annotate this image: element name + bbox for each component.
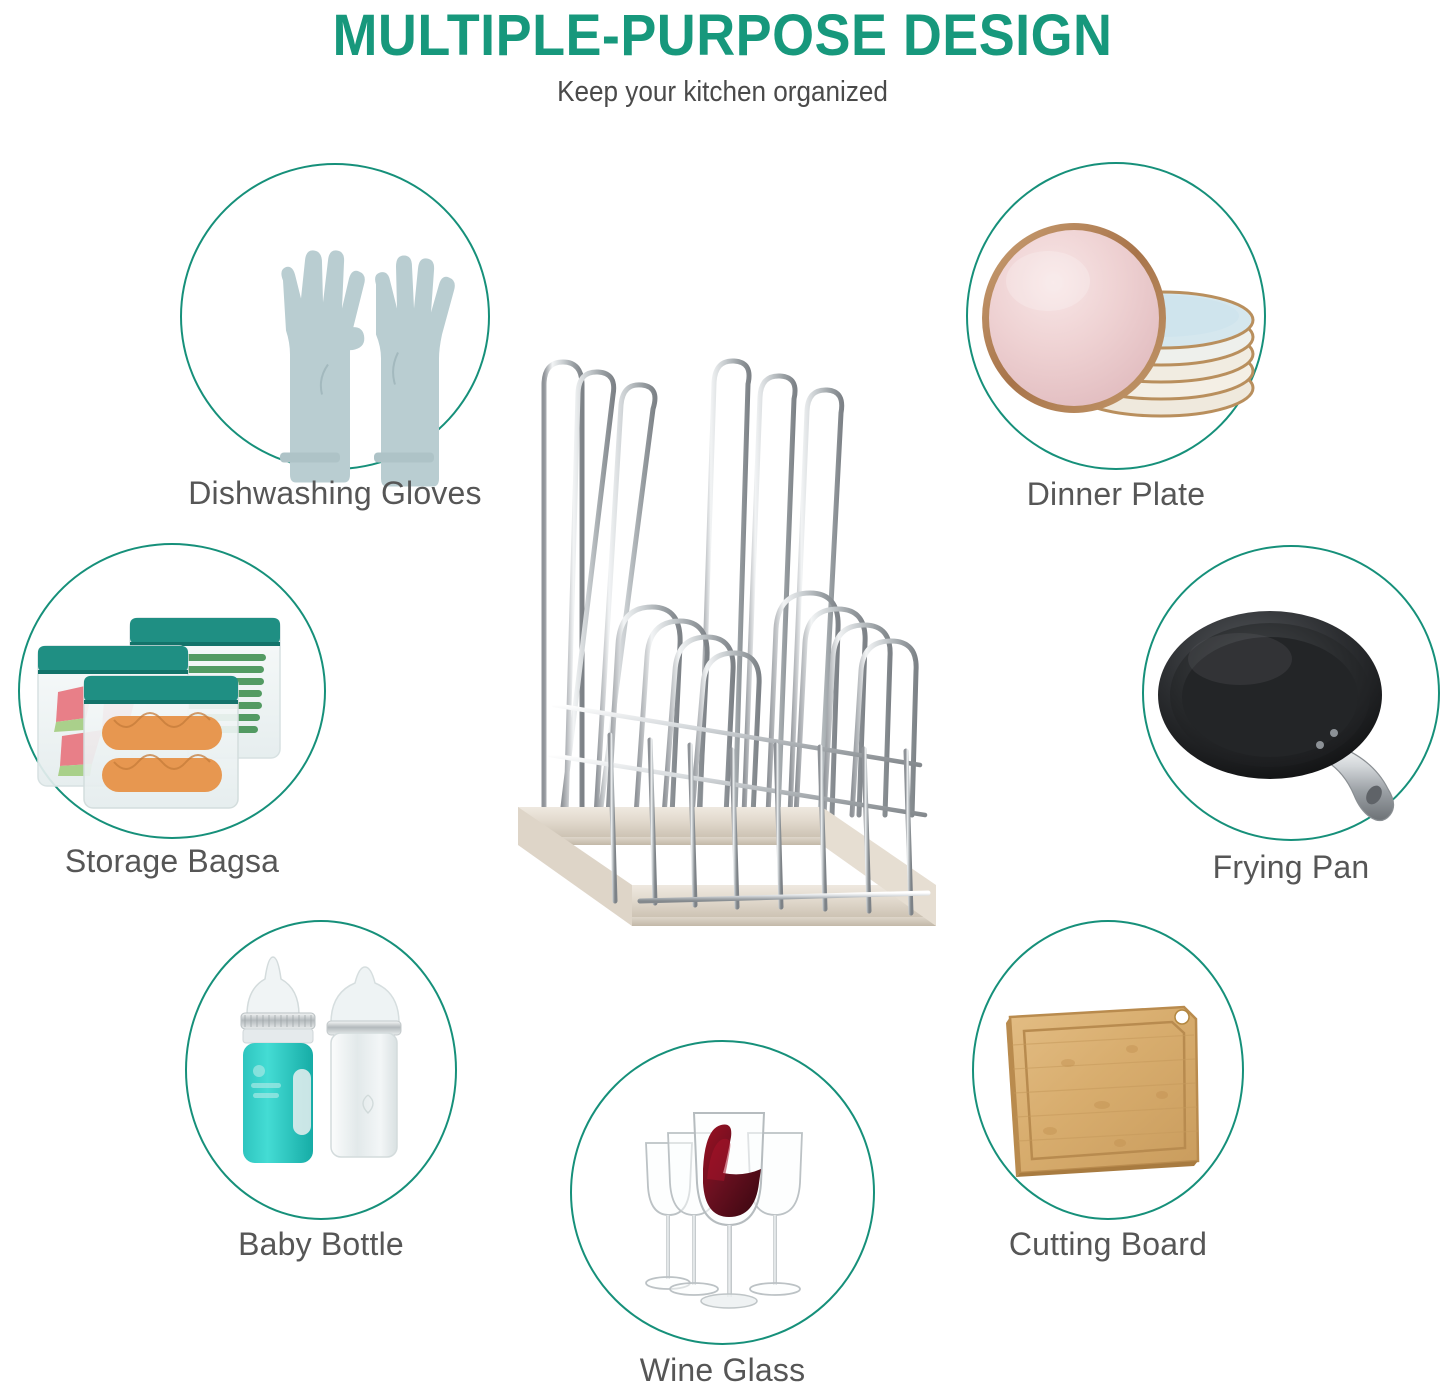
feature-label: Dishwashing Gloves bbox=[180, 475, 490, 512]
feature-ring bbox=[972, 920, 1244, 1220]
feature-label: Wine Glass bbox=[570, 1352, 875, 1383]
feature-ring bbox=[570, 1040, 875, 1345]
feature-dishwashing-gloves[interactable]: Dishwashing Gloves bbox=[180, 163, 490, 513]
feature-ring bbox=[966, 162, 1266, 470]
feature-ring bbox=[180, 163, 490, 470]
feature-label: Baby Bottle bbox=[185, 1226, 457, 1263]
product-wire-rack bbox=[500, 345, 960, 930]
feature-ring bbox=[18, 543, 326, 839]
wire-rack-illustration bbox=[500, 345, 960, 930]
feature-ring bbox=[1142, 545, 1440, 841]
page-subtitle: Keep your kitchen organized bbox=[72, 76, 1373, 109]
feature-label: Storage Bagsa bbox=[18, 843, 326, 880]
feature-label: Dinner Plate bbox=[966, 476, 1266, 513]
feature-baby-bottle[interactable]: Baby Bottle bbox=[185, 920, 457, 1270]
feature-label: Frying Pan bbox=[1142, 849, 1440, 886]
feature-frying-pan[interactable]: Frying Pan bbox=[1142, 545, 1440, 885]
feature-ring bbox=[185, 920, 457, 1220]
page-title: MULTIPLE-PURPOSE DESIGN bbox=[51, 2, 1395, 69]
feature-label: Cutting Board bbox=[972, 1226, 1244, 1263]
feature-storage-bags[interactable]: Storage Bagsa bbox=[18, 543, 326, 873]
feature-wine-glass[interactable]: Wine Glass bbox=[570, 1040, 875, 1383]
feature-dinner-plate[interactable]: Dinner Plate bbox=[966, 162, 1266, 512]
infographic-page: MULTIPLE-PURPOSE DESIGN Keep your kitche… bbox=[0, 0, 1445, 1383]
feature-cutting-board[interactable]: Cutting Board bbox=[972, 920, 1244, 1270]
